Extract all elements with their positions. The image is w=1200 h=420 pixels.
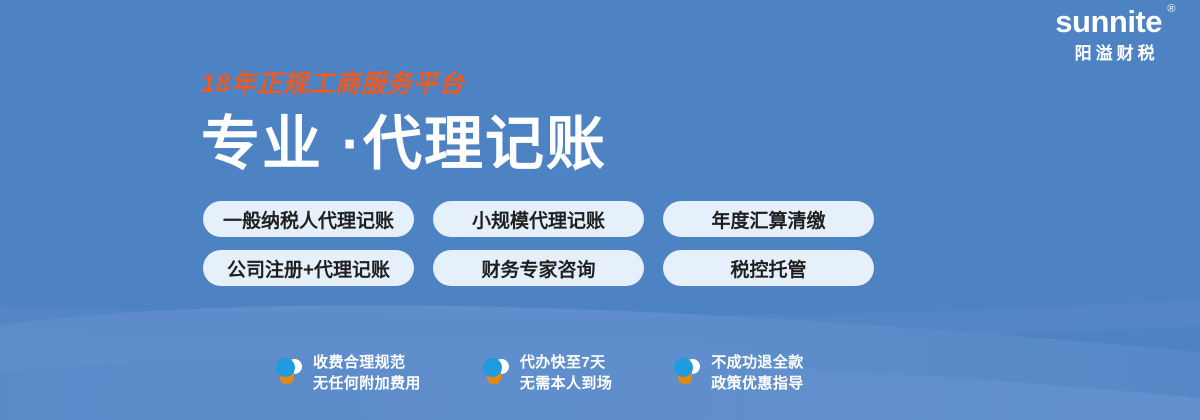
brand-wordmark: sunnite ® (1055, 6, 1174, 37)
service-pill-company-registration[interactable]: 公司注册+代理记账 (203, 250, 414, 286)
promo-banner: sunnite ® 阳溢财税 18年正规工商服务平台 专业 ·代理记账 一般纳税… (0, 0, 1200, 420)
brand-chinese-name: 阳溢财税 (1055, 45, 1174, 62)
feature-line-1: 不成功退全款 (711, 354, 803, 371)
page-title: 专业 ·代理记账 (201, 115, 607, 174)
service-pill-small-scale[interactable]: 小规模代理记账 (433, 201, 644, 237)
feature-line-2: 无任何附加费用 (313, 375, 421, 392)
feature-highlight-list: 收费合理规范 无任何附加费用 代办快至7天 无需本人到场 不成功退全款 (276, 352, 804, 395)
feature-text-guarantee: 不成功退全款 政策优惠指导 (711, 352, 803, 395)
registered-trademark-icon: ® (1167, 4, 1175, 15)
feature-text-speed: 代办快至7天 无需本人到场 (520, 352, 612, 395)
feature-item-guarantee: 不成功退全款 政策优惠指导 (674, 352, 803, 395)
hero-eyebrow: 18年正规工商服务平台 (201, 72, 607, 97)
feature-text-pricing: 收费合理规范 无任何附加费用 (313, 352, 421, 395)
feature-line-2: 政策优惠指导 (711, 375, 803, 392)
service-pill-tax-control-custody[interactable]: 税控托管 (663, 250, 874, 286)
service-pill-annual-settlement[interactable]: 年度汇算清缴 (663, 201, 874, 237)
service-pill-general-taxpayer[interactable]: 一般纳税人代理记账 (203, 201, 414, 237)
moon-cup-icon (674, 358, 700, 388)
feature-line-2: 无需本人到场 (520, 375, 612, 392)
feature-item-pricing: 收费合理规范 无任何附加费用 (276, 352, 421, 395)
service-pill-finance-consulting[interactable]: 财务专家咨询 (433, 250, 644, 286)
feature-line-1: 收费合理规范 (313, 354, 405, 371)
feature-line-1: 代办快至7天 (520, 354, 606, 371)
service-pill-row: 公司注册+代理记账 财务专家咨询 税控托管 (203, 250, 874, 286)
moon-cup-icon (276, 358, 302, 388)
service-pill-grid: 一般纳税人代理记账 小规模代理记账 年度汇算清缴 公司注册+代理记账 财务专家咨… (203, 201, 874, 299)
hero-headline-block: 18年正规工商服务平台 专业 ·代理记账 (201, 72, 607, 174)
feature-item-speed: 代办快至7天 无需本人到场 (483, 352, 612, 395)
service-pill-row: 一般纳税人代理记账 小规模代理记账 年度汇算清缴 (203, 201, 874, 237)
brand-wordmark-text: sunnite (1055, 4, 1162, 39)
brand-logo[interactable]: sunnite ® 阳溢财税 (1055, 6, 1174, 62)
moon-cup-icon (483, 358, 509, 388)
